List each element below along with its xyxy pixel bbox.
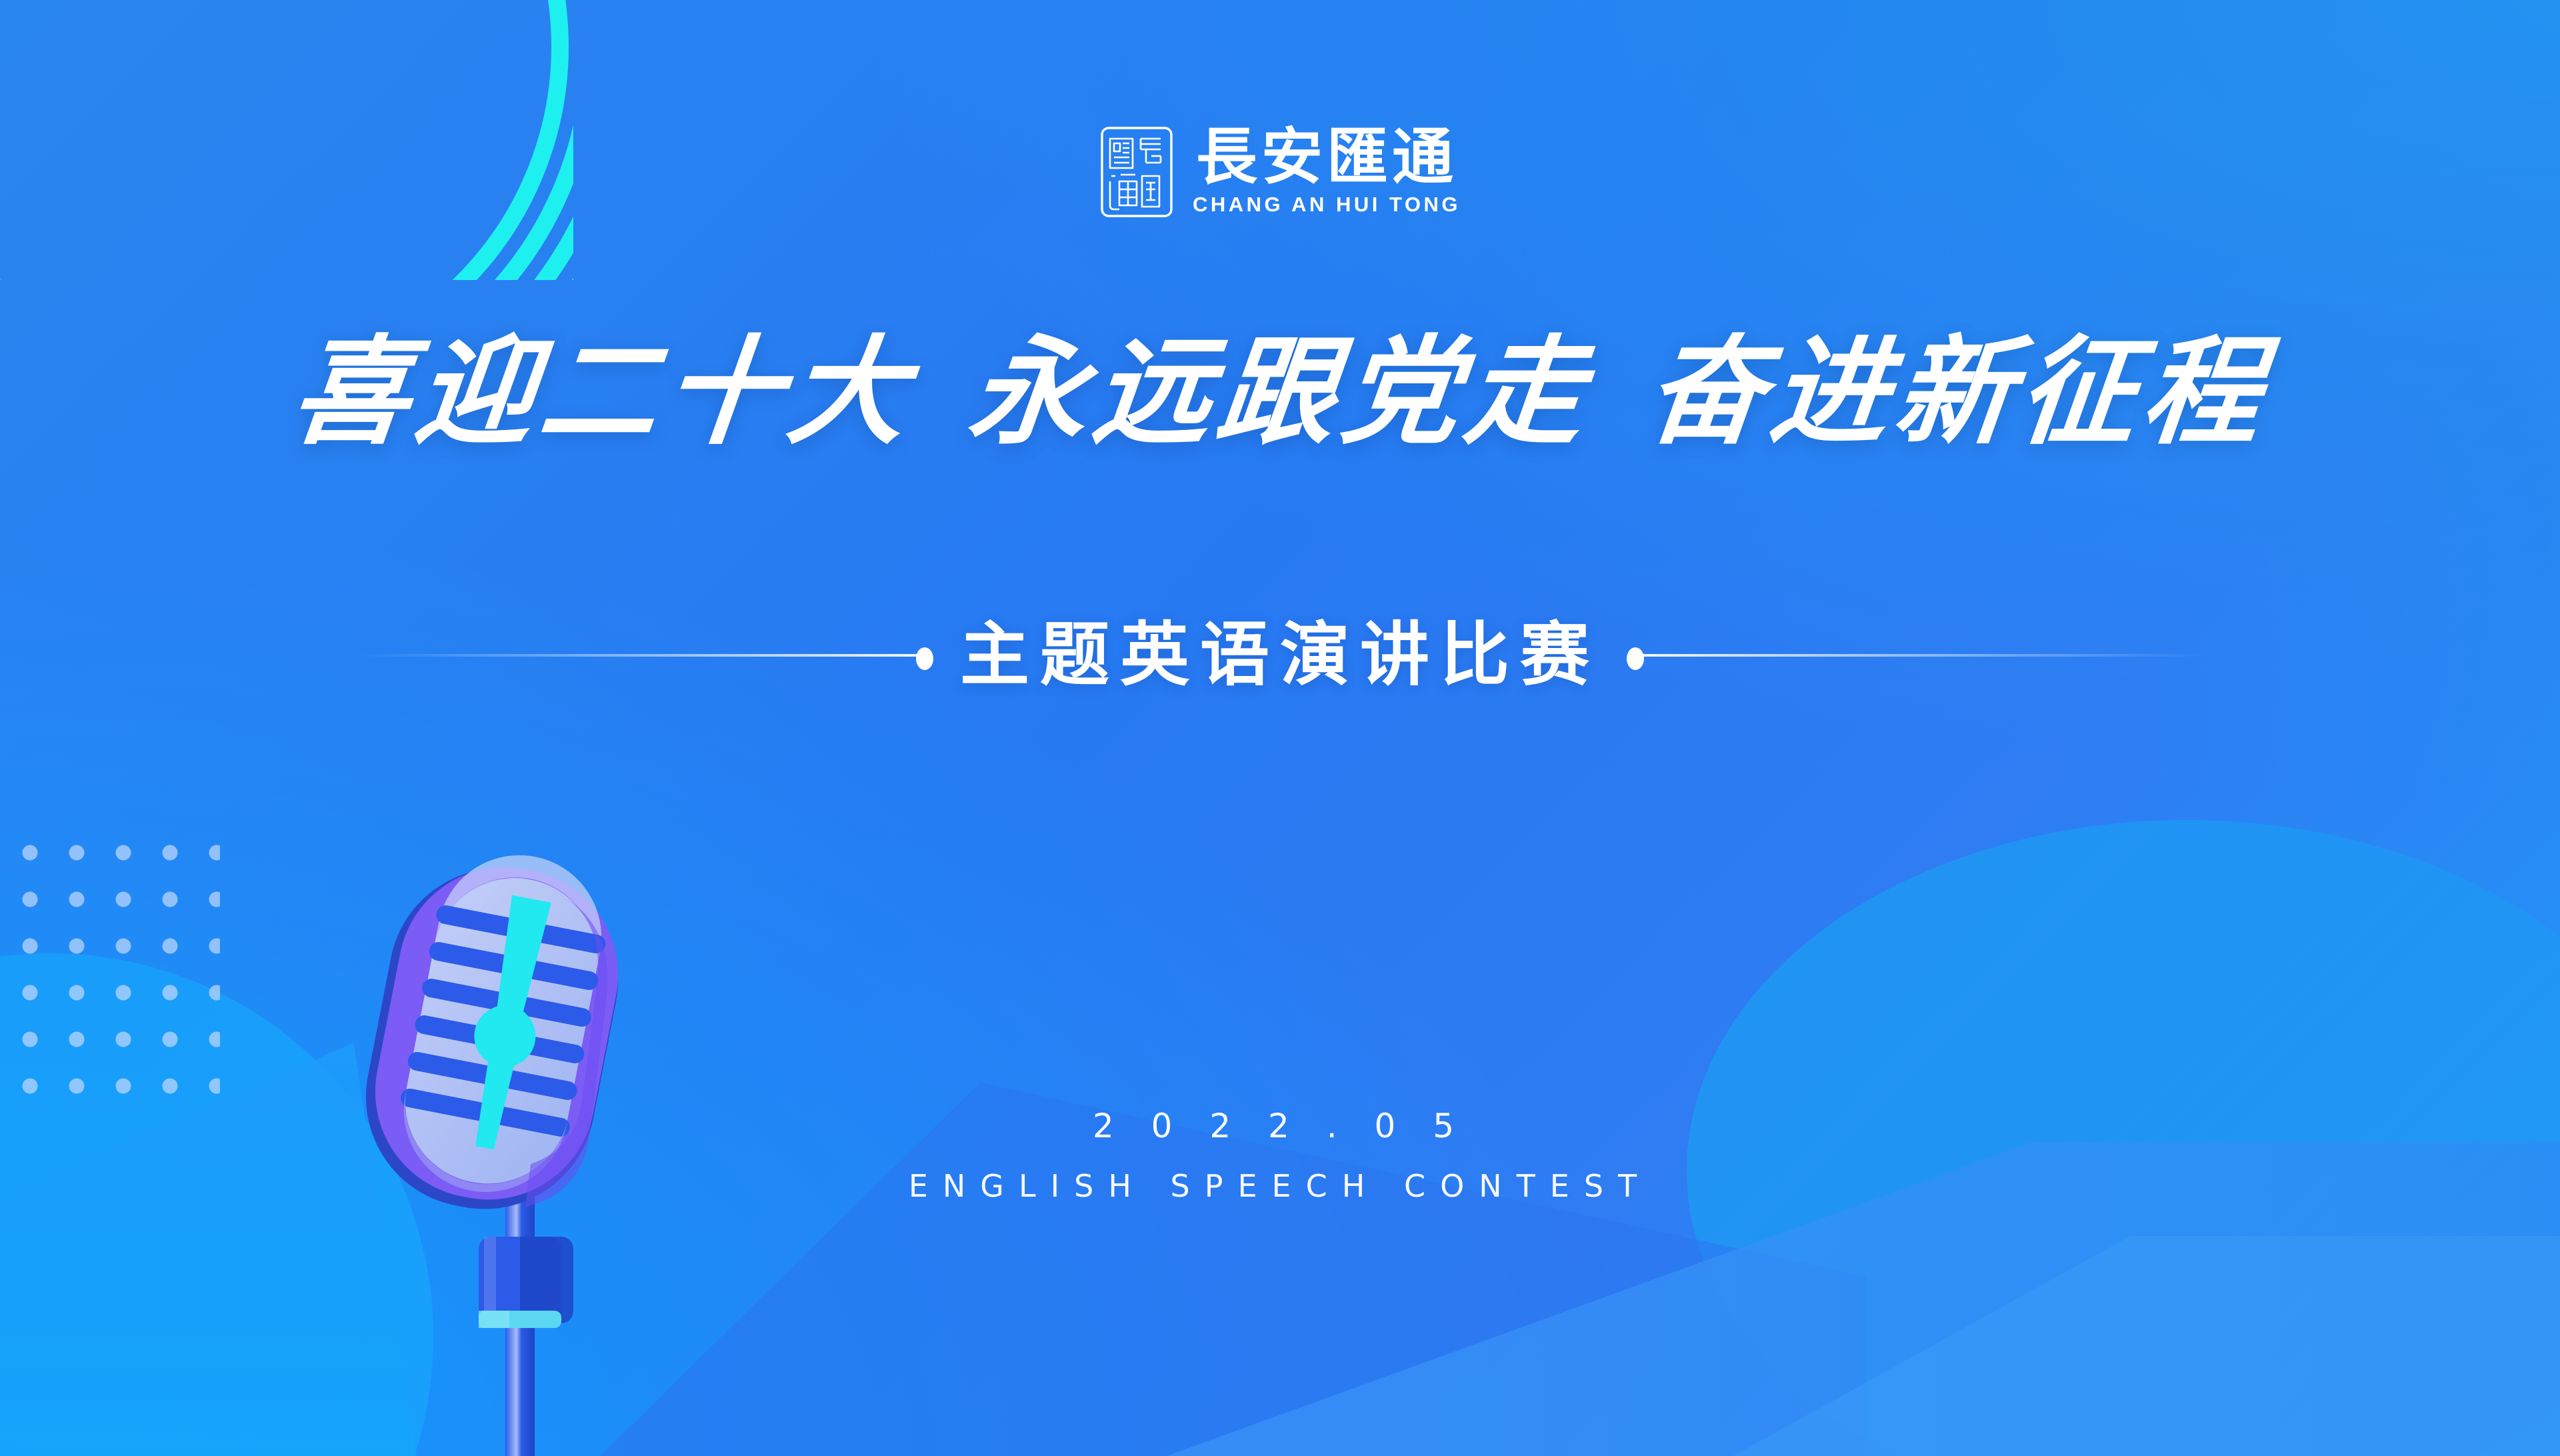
dot-grid-icon [0, 820, 220, 1100]
seal-square-icon [1099, 125, 1174, 219]
brand-name-en: CHANG AN HUI TONG [1193, 193, 1461, 217]
headline: 喜迎二十大 永远跟党走 奋进新征程 [0, 333, 2560, 451]
headline-part-3: 奋进新征程 [1641, 333, 2274, 451]
subtitle-row: 主题英语演讲比赛 [0, 620, 2560, 689]
brand-logo: 長安匯通 CHANG AN HUI TONG [1099, 125, 1461, 219]
retro-microphone-icon [357, 853, 691, 1456]
headline-part-2: 永远跟党走 [964, 333, 1597, 451]
brand-name-cn: 長安匯通 [1196, 127, 1457, 186]
subtitle-text: 主题英语演讲比赛 [960, 620, 1600, 689]
headline-part-1: 喜迎二十大 [287, 333, 919, 451]
decorative-rule-left [357, 652, 931, 658]
decorative-rule-right [1629, 652, 2203, 658]
concentric-arcs-icon [0, 0, 573, 280]
poster-canvas: 長安匯通 CHANG AN HUI TONG 喜迎二十大 永远跟党走 奋进新征程… [0, 0, 2560, 1456]
